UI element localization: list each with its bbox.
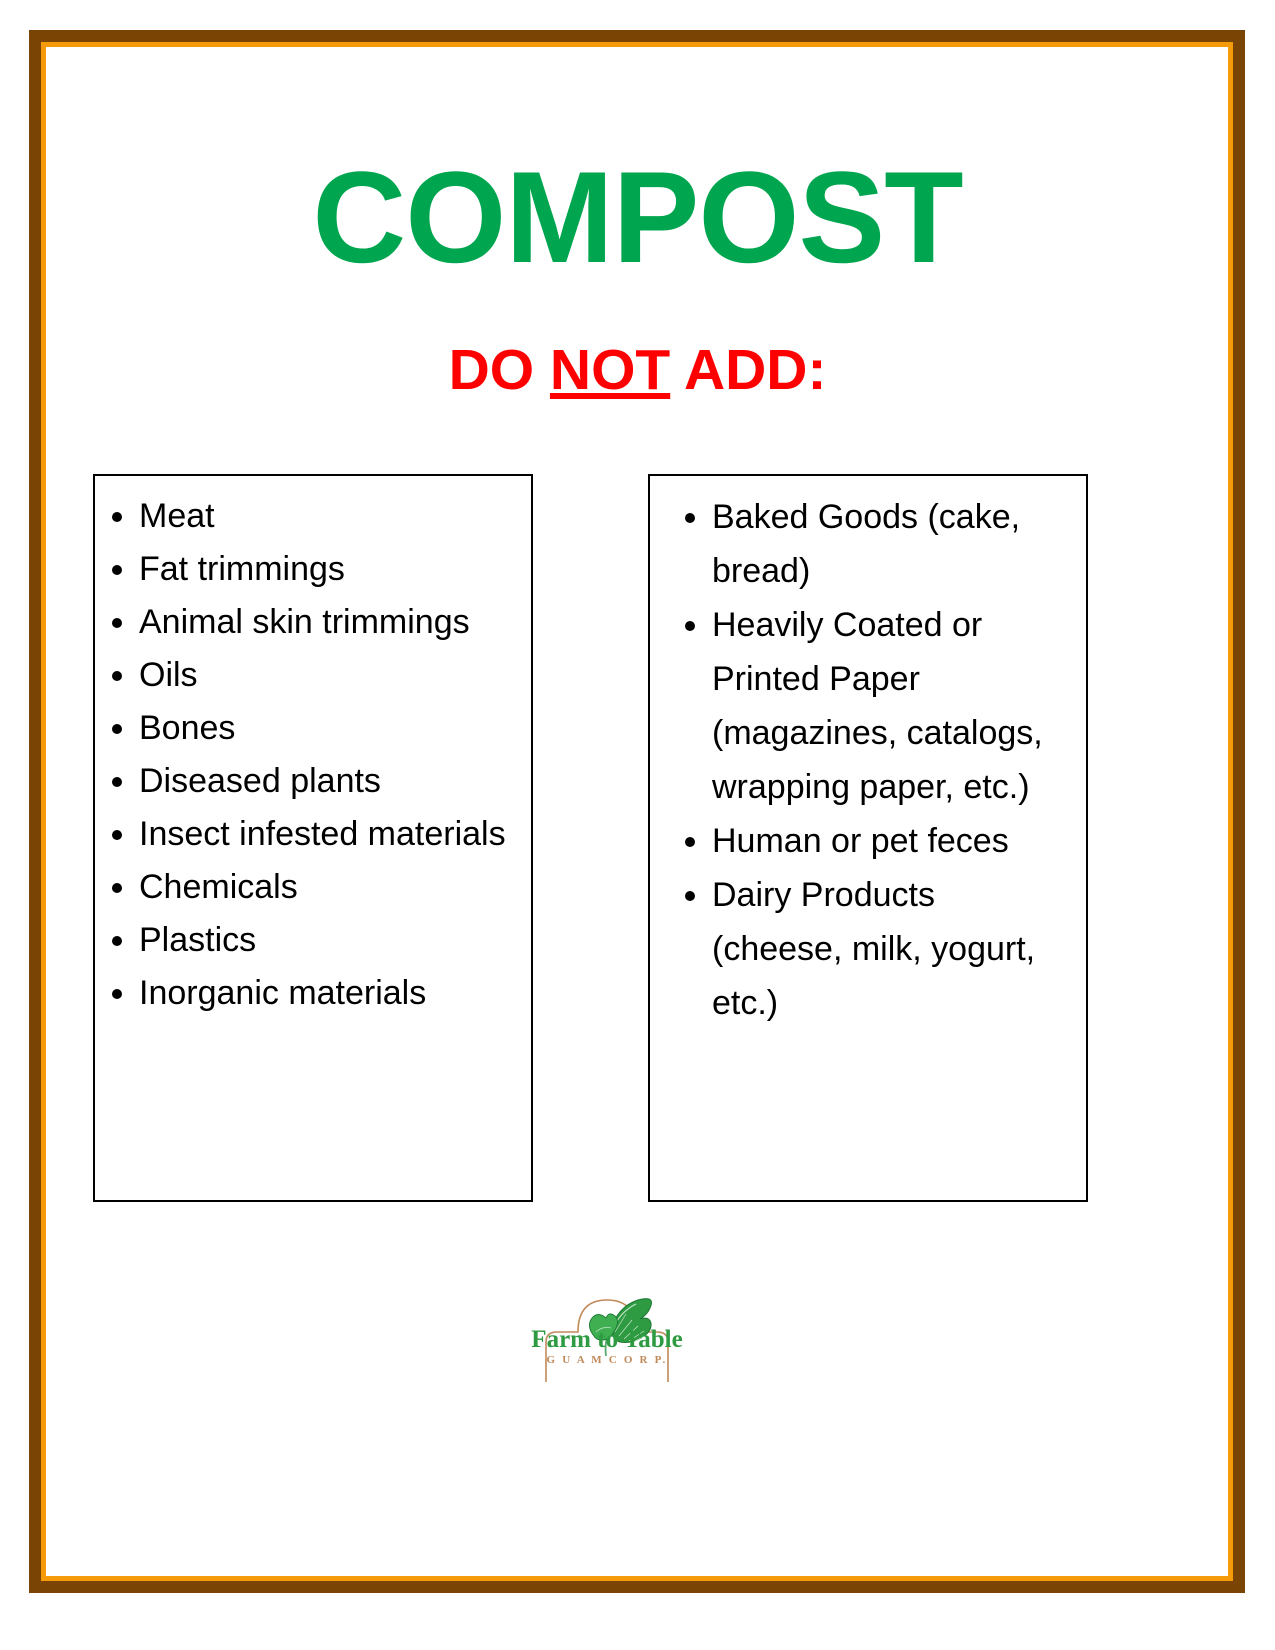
exclusion-list-box-left: Meat Fat trimmings Animal skin trimmings… [93, 474, 533, 1202]
list-item: Inorganic materials [139, 967, 521, 1020]
list-item: Meat [139, 490, 521, 543]
exclusion-list-left: Meat Fat trimmings Animal skin trimmings… [95, 476, 531, 1020]
poster-subtitle: DO NOT ADD: [0, 340, 1275, 400]
subtitle-text-after: ADD: [670, 338, 826, 402]
farm-to-table-logo: Farm to Table G U A M C O R P. [516, 1270, 698, 1385]
poster-canvas: COMPOST DO NOT ADD: Meat Fat trimmings A… [0, 0, 1275, 1650]
list-item: Insect infested materials [139, 808, 521, 861]
logo-wordmark: Farm to Table [516, 1326, 698, 1353]
list-item: Bones [139, 702, 521, 755]
list-item: Human or pet feces [712, 814, 1072, 868]
logo-subtext: G U A M C O R P. [516, 1354, 698, 1367]
subtitle-text-before: DO [449, 338, 550, 402]
list-item: Fat trimmings [139, 543, 521, 596]
list-item: Oils [139, 649, 521, 702]
page-title: COMPOST [0, 152, 1275, 282]
list-item: Diseased plants [139, 755, 521, 808]
exclusion-list-right: Baked Goods (cake, bread) Heavily Coated… [650, 476, 1086, 1030]
list-item: Plastics [139, 914, 521, 967]
list-item: Heavily Coated or Printed Paper (magazin… [712, 598, 1072, 814]
list-item: Animal skin trimmings [139, 596, 521, 649]
list-item: Chemicals [139, 861, 521, 914]
exclusion-list-box-right: Baked Goods (cake, bread) Heavily Coated… [648, 474, 1088, 1202]
list-item: Dairy Products (cheese, milk, yogurt, et… [712, 868, 1072, 1030]
subtitle-emphasis-not: NOT [550, 338, 670, 402]
list-item: Baked Goods (cake, bread) [712, 490, 1072, 598]
